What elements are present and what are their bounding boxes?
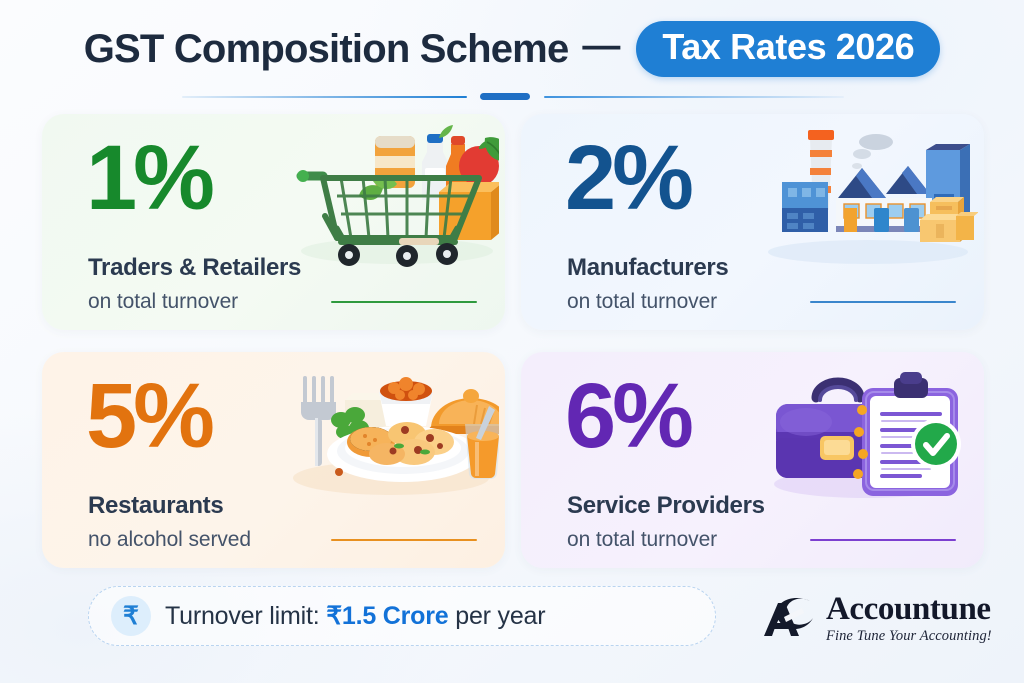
rate-card-accent-line [810, 301, 956, 303]
rate-card-manufacturers: 2% Manufacturers on total turnover [521, 114, 984, 330]
ac-monogram-icon [762, 595, 818, 641]
rate-card-subtitle: on total turnover [567, 528, 717, 552]
turnover-limit-amount: ₹1.5 Crore [326, 602, 448, 630]
logo-text: Accountune Fine Tune Your Accounting! [826, 593, 992, 644]
rate-card-accent-line [331, 301, 477, 303]
briefcase-clipboard-check-icon [758, 358, 978, 508]
logo-name: Accountune [826, 593, 992, 626]
rate-card-heading: Manufacturers [567, 254, 728, 282]
food-plate-meal-icon [279, 358, 499, 508]
rate-percent-value: 6% [565, 368, 690, 465]
turnover-limit-pill: ₹ Turnover limit: ₹1.5 Crore per year [88, 586, 716, 646]
rate-card-subtitle: on total turnover [567, 290, 717, 314]
rate-card-subtitle: on total turnover [88, 290, 238, 314]
rate-percent-value: 2% [565, 130, 690, 227]
title-dash: — [582, 25, 620, 68]
rate-card-traders: 1% Traders & Retailers on total turnover [42, 114, 505, 330]
rate-card-service-providers: 6% Service Providers on total turnover [521, 352, 984, 568]
rupee-icon: ₹ [111, 596, 151, 636]
brand-logo: Accountune Fine Tune Your Accounting! [762, 589, 1010, 647]
rate-card-heading: Traders & Retailers [88, 254, 301, 282]
factory-building-icon [758, 120, 978, 270]
title-divider [172, 92, 852, 102]
divider-right-bar [544, 96, 844, 98]
rate-card-heading: Service Providers [567, 492, 765, 520]
rate-card-accent-line [810, 539, 956, 541]
page-title: GST Composition Scheme [84, 27, 569, 72]
turnover-limit-text: Turnover limit: ₹1.5 Crore per year [165, 601, 545, 631]
infographic-canvas: GST Composition Scheme — Tax Rates 2026 … [0, 0, 1024, 683]
turnover-limit-suffix: per year [455, 602, 545, 630]
logo-tagline: Fine Tune Your Accounting! [826, 629, 992, 644]
rate-percent-value: 1% [86, 130, 211, 227]
divider-center-bar [480, 93, 530, 100]
shopping-cart-groceries-icon [279, 120, 499, 270]
divider-left-bar [182, 96, 467, 98]
turnover-limit-label: Turnover limit: [165, 602, 319, 630]
rate-card-subtitle: no alcohol served [88, 528, 251, 552]
title-row: GST Composition Scheme — Tax Rates 2026 [0, 18, 1024, 80]
rate-card-accent-line [331, 539, 477, 541]
title-badge: Tax Rates 2026 [636, 21, 940, 77]
rate-card-heading: Restaurants [88, 492, 223, 520]
rate-card-restaurants: 5% Restaurants no alcohol served [42, 352, 505, 568]
rate-percent-value: 5% [86, 368, 211, 465]
header: GST Composition Scheme — Tax Rates 2026 [0, 18, 1024, 102]
